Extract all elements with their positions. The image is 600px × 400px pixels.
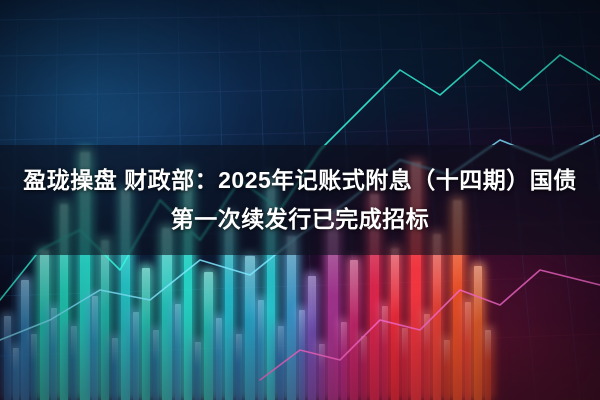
headline-text: 盈珑操盘 财政部：2025年记账式附息（十四期）国债第一次续发行已完成招标 (20, 161, 580, 239)
image-canvas: 盈珑操盘 财政部：2025年记账式附息（十四期）国债第一次续发行已完成招标 (0, 0, 600, 400)
headline-overlay: 盈珑操盘 财政部：2025年记账式附息（十四期）国债第一次续发行已完成招标 (0, 145, 600, 255)
line-magenta-line (260, 270, 600, 380)
